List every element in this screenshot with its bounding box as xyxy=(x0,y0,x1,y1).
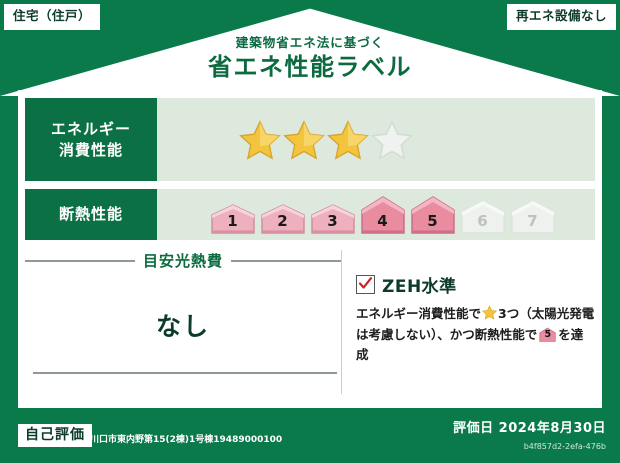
row-energy-value xyxy=(157,98,595,181)
star-icon-empty-4 xyxy=(371,119,413,161)
star-icon-filled-1 xyxy=(239,119,281,161)
zeh-desc-line1-b: 3つ（太陽光発電 xyxy=(498,306,594,321)
insulation-house-label-6: 6 xyxy=(459,212,506,230)
section-divider xyxy=(341,250,342,394)
insulation-house-5: 5 xyxy=(409,195,456,234)
row-insulation-performance: 断熱性能 1 xyxy=(25,189,595,240)
row-energy-label: エネルギー 消費性能 xyxy=(25,98,157,181)
star-rating xyxy=(239,119,413,161)
checkbox-checked-icon xyxy=(356,275,375,294)
title-main: 省エネ性能ラベル xyxy=(0,52,620,82)
star-icon-filled-3 xyxy=(327,119,369,161)
insulation-house-4: 4 xyxy=(359,195,406,234)
heading-rule-right xyxy=(231,260,341,262)
row-insulation-label: 断熱性能 xyxy=(25,189,157,240)
estimated-utility-cost-heading: 目安光熱費 xyxy=(25,250,341,271)
insulation-house-label-4: 4 xyxy=(359,212,406,230)
insulation-house-label-5: 5 xyxy=(409,212,456,230)
zeh-title-row: ZEH水準 xyxy=(356,272,595,297)
label-title: 建築物省エネ法に基づく 省エネ性能ラベル xyxy=(0,36,620,82)
insulation-house-label-1: 1 xyxy=(209,212,256,230)
label-body-panel: エネルギー 消費性能 xyxy=(18,90,602,408)
zeh-desc-line2-a: は考慮しない）、かつ断熱性能で xyxy=(356,327,537,342)
row-insulation-value: 1 2 xyxy=(157,189,595,240)
zeh-title-text: ZEH水準 xyxy=(382,272,457,297)
insulation-house-7: 7 xyxy=(509,199,556,234)
heading-rule-left xyxy=(25,260,135,262)
house-icon-inline-5: 5 xyxy=(539,327,556,342)
zeh-description: エネルギー消費性能で3つ（太陽光発電 は考慮しない）、かつ断熱性能で5を達成 xyxy=(356,304,595,364)
estimated-utility-cost-value: なし xyxy=(25,307,341,343)
estimated-utility-cost-title: 目安光熱費 xyxy=(143,250,223,271)
insulation-house-label-7: 7 xyxy=(509,212,556,230)
zeh-block: ZEH水準 エネルギー消費性能で3つ（太陽光発電 は考慮しない）、かつ断熱性能で… xyxy=(356,248,595,400)
insulation-house-1: 1 xyxy=(209,203,256,234)
evaluation-date: 評価日 2024年8月30日 xyxy=(453,417,606,436)
property-address: 川口市東内野第15(2棟)1号棟19489000100 xyxy=(90,432,282,445)
star-icon-filled-2 xyxy=(283,119,325,161)
label-footer: 自己評価 川口市東内野第15(2棟)1号棟19489000100 評価日 202… xyxy=(0,408,620,463)
document-hash: b4f857d2-2efa-476b xyxy=(524,442,606,451)
insulation-house-2: 2 xyxy=(259,203,306,234)
row-insulation-label-line1: 断熱性能 xyxy=(59,204,123,224)
estimated-utility-cost-block: 目安光熱費 なし xyxy=(25,248,341,400)
badge-renewable-energy: 再エネ設備なし xyxy=(507,4,616,30)
title-subtitle: 建築物省エネ法に基づく xyxy=(0,36,620,50)
star-icon-inline xyxy=(482,305,497,325)
self-evaluation-badge: 自己評価 xyxy=(18,424,92,447)
insulation-house-6: 6 xyxy=(459,199,506,234)
cost-bottom-rule xyxy=(33,372,337,374)
row-energy-label-line1: エネルギー xyxy=(51,119,131,139)
badge-building-type: 住宅（住戸） xyxy=(4,4,100,30)
insulation-house-label-3: 3 xyxy=(309,212,356,230)
insulation-house-label-2: 2 xyxy=(259,212,306,230)
lower-section: 目安光熱費 なし ZEH水準 エネルギー消費性能で3つ（太陽 xyxy=(25,248,595,400)
insulation-scale: 1 2 xyxy=(209,195,556,234)
row-energy-performance: エネルギー 消費性能 xyxy=(25,98,595,181)
energy-performance-label: 住宅（住戸） 再エネ設備なし 建築物省エネ法に基づく 省エネ性能ラベル エネルギ… xyxy=(0,0,620,463)
zeh-desc-house-badge-label: 5 xyxy=(539,328,556,343)
row-energy-label-line2: 消費性能 xyxy=(59,140,123,160)
zeh-desc-line1-a: エネルギー消費性能で xyxy=(356,306,481,321)
insulation-house-3: 3 xyxy=(309,203,356,234)
